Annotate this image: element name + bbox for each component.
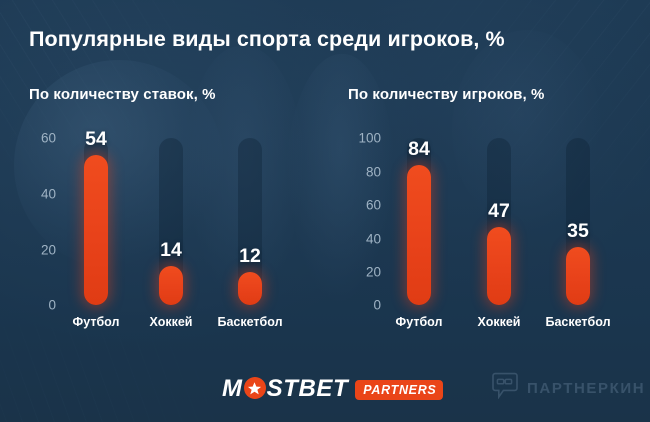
bar-fill[interactable]: [159, 266, 183, 305]
bar-group-football[interactable]: 54 Футбол: [84, 0, 108, 422]
logo-letters-stbet: STBET: [267, 375, 349, 403]
bar-category-label: Баскетбол: [217, 315, 282, 329]
bar-group-basketball[interactable]: 35 Баскетбол: [566, 0, 590, 422]
bar-value-label: 47: [488, 200, 510, 223]
bar-group-hockey[interactable]: 47 Хоккей: [487, 0, 511, 422]
y-axis-tick: 60: [24, 131, 56, 146]
y-axis-tick: 100: [341, 131, 381, 146]
bar-category-label: Хоккей: [150, 315, 193, 329]
bar-group-hockey[interactable]: 14 Хоккей: [159, 0, 183, 422]
bar-fill[interactable]: [487, 227, 511, 305]
logo-letter-m: M: [222, 375, 243, 403]
bar-value-label: 54: [85, 128, 107, 151]
bar-fill[interactable]: [566, 247, 590, 305]
star-icon: [244, 377, 266, 399]
bar-category-label: Футбол: [396, 315, 443, 329]
infographic-canvas: Популярные виды спорта среди игроков, % …: [0, 0, 650, 422]
bar-category-label: Баскетбол: [545, 315, 610, 329]
bar-value-label: 84: [408, 138, 430, 161]
logo-partners-badge: PARTNERS: [355, 380, 443, 400]
chart-bets-by-count: 60 40 20 0 54 Футбол 14 Хоккей 12 Баскет…: [0, 0, 325, 422]
bar-group-football[interactable]: 84 Футбол: [407, 0, 431, 422]
partnerkin-watermark: ПАРТНЕРКИН: [492, 372, 645, 404]
watermark-text: ПАРТНЕРКИН: [527, 380, 645, 397]
y-axis-tick: 60: [341, 198, 381, 213]
y-axis-tick: 0: [341, 298, 381, 313]
bar-fill[interactable]: [84, 155, 108, 305]
bar-fill[interactable]: [407, 165, 431, 305]
bar-category-label: Хоккей: [478, 315, 521, 329]
logo-wordmark: M STBET: [222, 375, 348, 403]
y-axis-tick: 0: [24, 298, 56, 313]
y-axis-tick: 80: [341, 165, 381, 180]
bar-value-label: 35: [567, 220, 589, 243]
speech-bubble-sunglasses-icon: [492, 372, 518, 404]
chart-players-by-count: 100 80 60 40 20 0 84 Футбол 47 Хоккей 35…: [325, 0, 650, 422]
y-axis-tick: 20: [24, 243, 56, 258]
mostbet-partners-logo[interactable]: M STBET PARTNERS: [222, 375, 443, 403]
y-axis-tick: 40: [24, 187, 56, 202]
y-axis-tick: 20: [341, 265, 381, 280]
bar-fill[interactable]: [238, 272, 262, 305]
y-axis-tick: 40: [341, 232, 381, 247]
bar-category-label: Футбол: [73, 315, 120, 329]
bar-value-label: 12: [239, 245, 261, 268]
bar-group-basketball[interactable]: 12 Баскетбол: [238, 0, 262, 422]
bar-value-label: 14: [160, 239, 182, 262]
